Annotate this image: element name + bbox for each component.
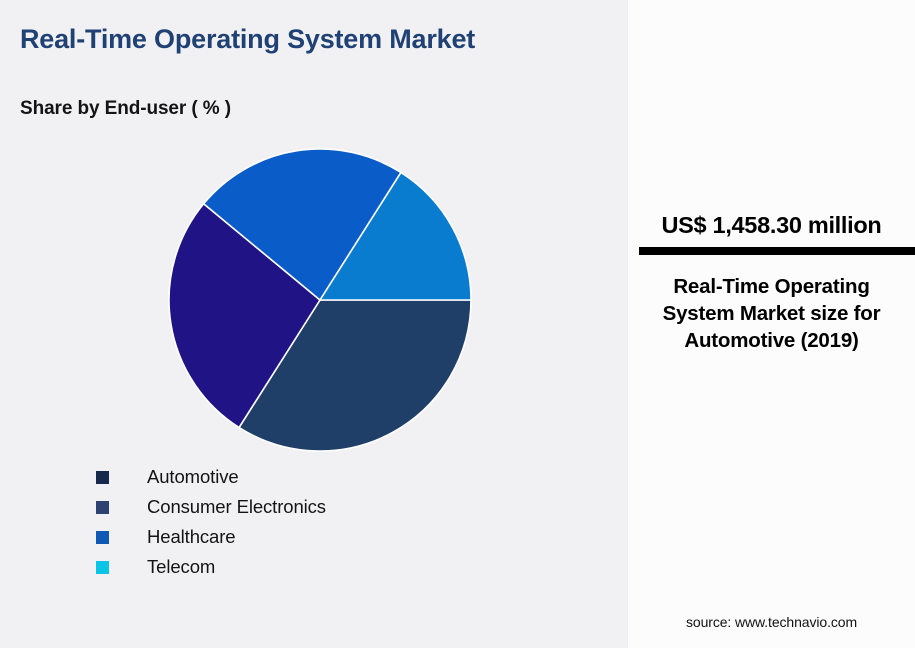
kpi-panel: US$ 1,458.30 million Real-Time Operating… <box>627 0 915 648</box>
pie-chart <box>168 148 472 452</box>
legend-label-automotive: Automotive <box>147 466 239 488</box>
legend-label-healthcare: Healthcare <box>147 526 235 548</box>
kpi-caption: Real-Time Operating System Market size f… <box>642 274 901 355</box>
source-note: source: www.technavio.com <box>628 614 915 630</box>
legend-label-telecom: Telecom <box>147 556 215 578</box>
page-title: Real-Time Operating System Market <box>20 24 540 54</box>
legend-item-healthcare: Healthcare <box>96 522 526 552</box>
legend-swatch-consumer-electronics <box>96 501 109 514</box>
chart-subtitle: Share by End-user ( % ) <box>20 98 231 120</box>
chart-legend: Automotive Consumer Electronics Healthca… <box>96 462 526 582</box>
legend-swatch-healthcare <box>96 531 109 544</box>
legend-item-telecom: Telecom <box>96 552 526 582</box>
kpi-value: US$ 1,458.30 million <box>628 212 915 239</box>
chart-infographic: Real-Time Operating System Market Share … <box>0 0 915 648</box>
kpi-divider <box>639 247 915 255</box>
legend-swatch-automotive <box>96 471 109 484</box>
pie-chart-svg <box>168 148 472 452</box>
legend-item-consumer-electronics: Consumer Electronics <box>96 492 526 522</box>
legend-label-consumer-electronics: Consumer Electronics <box>147 496 326 518</box>
chart-panel: Real-Time Operating System Market Share … <box>0 0 627 648</box>
legend-item-automotive: Automotive <box>96 462 526 492</box>
legend-swatch-telecom <box>96 561 109 574</box>
